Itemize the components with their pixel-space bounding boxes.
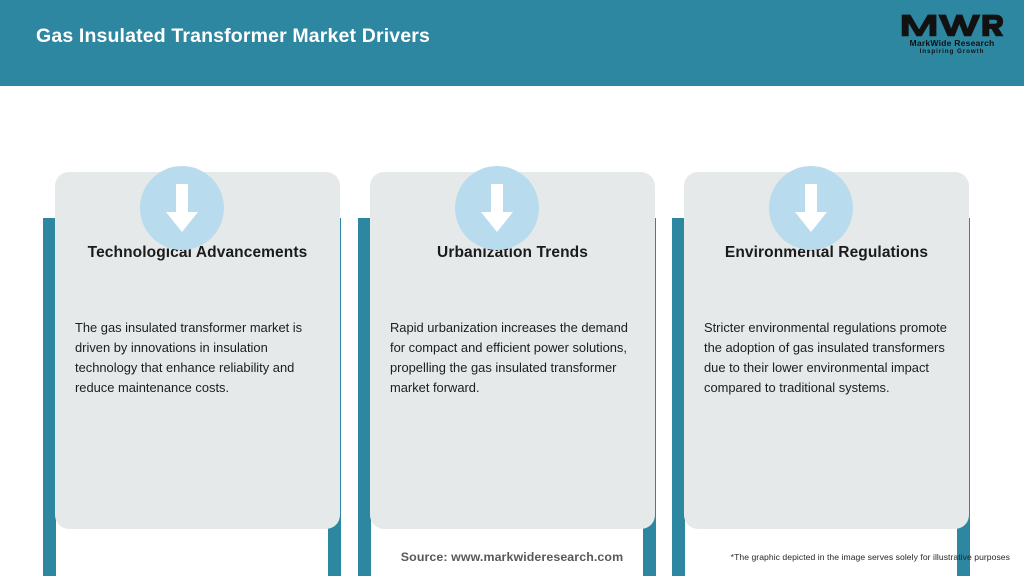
driver-cards-container: Technological Advancements The gas insul…: [0, 86, 1024, 546]
mwr-monogram-icon: [900, 12, 1004, 38]
down-arrow-glyph: [477, 182, 517, 234]
down-arrow-glyph: [162, 182, 202, 234]
down-arrow-icon: [140, 166, 224, 250]
down-arrow-glyph: [791, 182, 831, 234]
slide: Gas Insulated Transformer Market Drivers…: [0, 0, 1024, 576]
logo-company-name: MarkWide Research: [910, 39, 995, 48]
driver-card-1[interactable]: Technological Advancements The gas insul…: [43, 166, 341, 546]
down-arrow-icon: [455, 166, 539, 250]
disclaimer-label: *The graphic depicted in the image serve…: [731, 552, 1010, 562]
driver-card-2[interactable]: Urbanization Trends Rapid urbanization i…: [358, 166, 656, 546]
logo-tagline: Inspiring Growth: [920, 49, 985, 56]
down-arrow-icon: [769, 166, 853, 250]
card-body-text: The gas insulated transformer market is …: [75, 318, 323, 398]
brand-logo: MarkWide Research Inspiring Growth: [894, 8, 1010, 60]
card-body-text: Rapid urbanization increases the demand …: [390, 318, 638, 398]
header-banner: Gas Insulated Transformer Market Drivers…: [0, 0, 1024, 86]
page-title: Gas Insulated Transformer Market Drivers: [36, 25, 430, 48]
driver-card-3[interactable]: Environmental Regulations Stricter envir…: [672, 166, 970, 546]
card-body-text: Stricter environmental regulations promo…: [704, 318, 952, 398]
